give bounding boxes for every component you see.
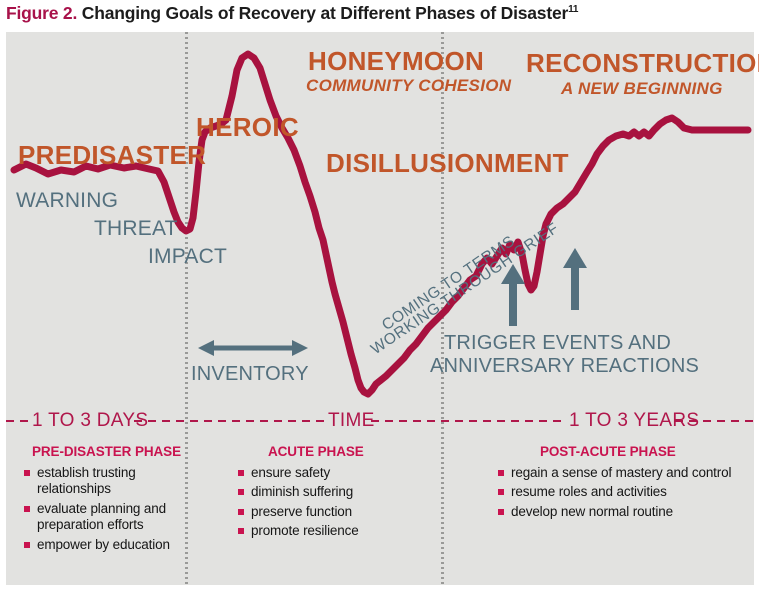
annotation-inventory: INVENTORY [191, 363, 309, 386]
list-item: resume roles and activities [498, 484, 748, 500]
list-item-text: regain a sense of mastery and control [511, 465, 731, 480]
list-item-text: promote resilience [251, 523, 359, 538]
bullet-square-icon [238, 470, 244, 476]
list-item-text: establish trusting relationships [37, 465, 136, 496]
annotation-warning: WARNING [16, 189, 118, 213]
bullet-square-icon [24, 470, 30, 476]
time-axis-dash-c [371, 420, 565, 422]
phase-column-title-pre-disaster: PRE-DISASTER PHASE [32, 444, 184, 459]
list-item-text: develop new normal routine [511, 504, 673, 519]
figure-title-bar: Figure 2. Changing Goals of Recovery at … [0, 0, 759, 30]
figure-title-text: Changing Goals of Recovery at Different … [77, 3, 568, 23]
phase-label-honeymoon: HONEYMOON [308, 46, 484, 77]
inventory-double-arrow-icon [198, 338, 308, 358]
bullet-square-icon [238, 528, 244, 534]
list-item: preserve function [238, 504, 428, 520]
bullet-square-icon [498, 470, 504, 476]
list-item: promote resilience [238, 523, 428, 539]
phase-column-pre-disaster: PRE-DISASTER PHASE establish trusting re… [24, 444, 184, 556]
time-axis: 1 TO 3 DAYS TIME 1 TO 3 YEARS [6, 410, 754, 432]
list-item-text: preserve function [251, 504, 352, 519]
time-axis-label-center: TIME [328, 410, 375, 432]
list-item: evaluate planning and preparation effort… [24, 501, 184, 534]
figure-title-superscript: 11 [568, 4, 578, 15]
phase-label-predisaster: PREDISASTER [18, 140, 206, 171]
bullet-square-icon [238, 509, 244, 515]
bullet-square-icon [498, 509, 504, 515]
phase-column-acute: ACUTE PHASE ensure safety diminish suffe… [238, 444, 428, 543]
list-item-text: resume roles and activities [511, 484, 667, 499]
phase-column-post-acute: POST-ACUTE PHASE regain a sense of maste… [498, 444, 748, 523]
figure-panel: PREDISASTER HEROIC HONEYMOON COMMUNITY C… [6, 32, 754, 585]
phase-label-disillusionment: DISILLUSIONMENT [326, 148, 569, 179]
annotation-trigger-events-line1: TRIGGER EVENTS AND [444, 332, 671, 355]
bullet-square-icon [238, 489, 244, 495]
phase-sublabel-a-new-beginning: A NEW BEGINNING [561, 79, 723, 99]
list-item: establish trusting relationships [24, 465, 184, 498]
annotation-impact: IMPACT [148, 245, 227, 269]
trigger-arrow-up-icon-1 [501, 264, 525, 326]
annotation-threat: THREAT [94, 217, 178, 241]
phase-column-title-post-acute: POST-ACUTE PHASE [540, 444, 748, 459]
phase-sublabel-community-cohesion: COMMUNITY COHESION [306, 76, 511, 96]
list-item: empower by education [24, 537, 184, 553]
list-item-text: evaluate planning and preparation effort… [37, 501, 166, 532]
page-title: Figure 2. Changing Goals of Recovery at … [6, 3, 578, 24]
phase-label-heroic: HEROIC [196, 112, 299, 143]
phase-column-title-acute: ACUTE PHASE [268, 444, 428, 459]
trigger-arrow-up-icon-2 [563, 248, 587, 310]
phase-label-reconstruction: RECONSTRUCTION [526, 48, 759, 79]
bullet-square-icon [24, 506, 30, 512]
list-item: develop new normal routine [498, 504, 748, 520]
bullet-square-icon [498, 489, 504, 495]
list-item-text: diminish suffering [251, 484, 353, 499]
annotation-trigger-events-line2: ANNIVERSARY REACTIONS [430, 355, 699, 378]
figure-number: Figure 2. [6, 3, 77, 23]
list-item: diminish suffering [238, 484, 428, 500]
time-axis-label-left: 1 TO 3 DAYS [32, 410, 148, 432]
list-item-text: ensure safety [251, 465, 330, 480]
time-axis-dash-b [134, 420, 324, 422]
time-axis-dash-d [675, 420, 754, 422]
list-item: regain a sense of mastery and control [498, 465, 748, 481]
phase-column-list-acute: ensure safety diminish suffering preserv… [238, 465, 428, 540]
phase-column-list-pre-disaster: establish trusting relationships evaluat… [24, 465, 184, 553]
list-item: ensure safety [238, 465, 428, 481]
time-axis-dash-a [6, 420, 30, 422]
bullet-square-icon [24, 542, 30, 548]
list-item-text: empower by education [37, 537, 170, 552]
phase-column-list-post-acute: regain a sense of mastery and control re… [498, 465, 748, 520]
